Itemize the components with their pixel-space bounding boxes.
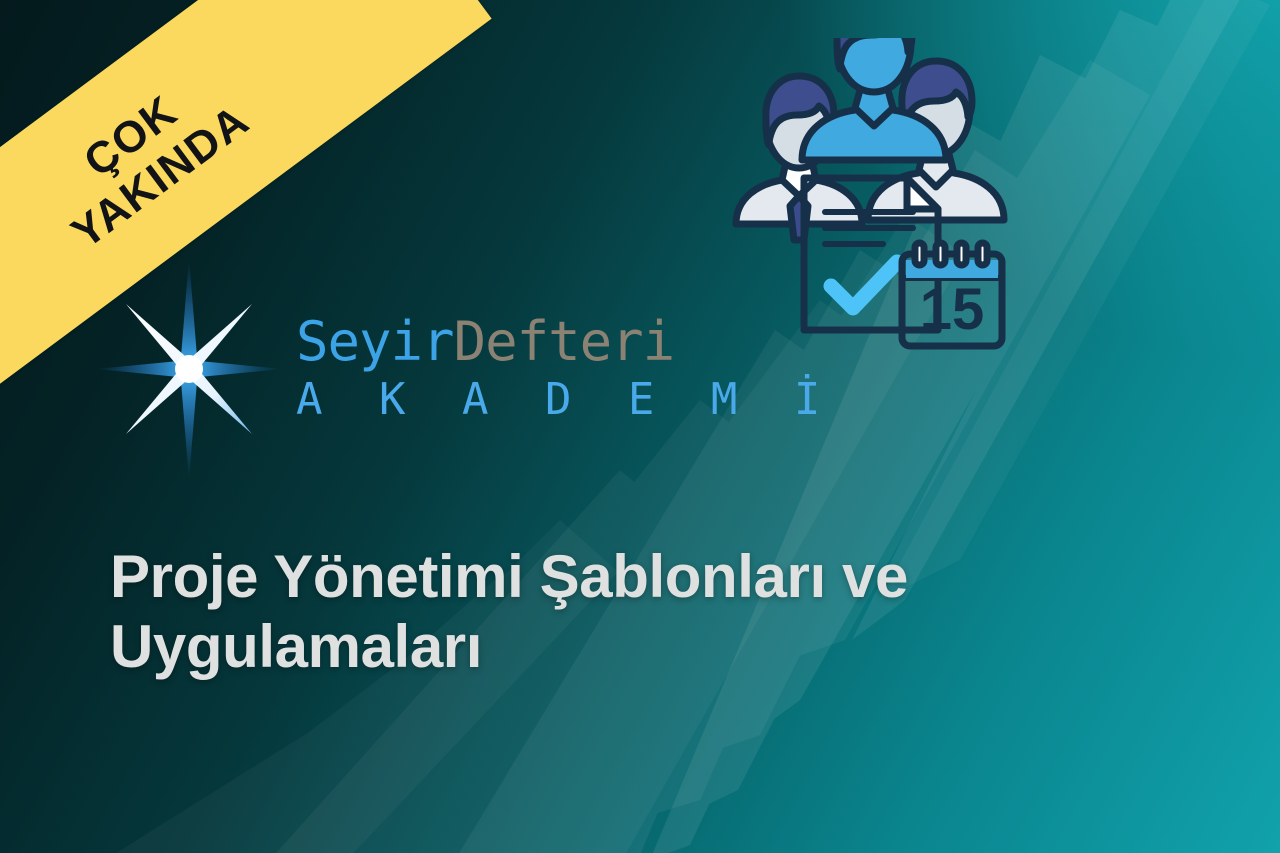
brand-subwordmark: A K A D E M İ	[296, 376, 835, 424]
wordmark-seyir: Seyir	[296, 310, 454, 373]
page-title: Proje Yönetimi Şablonları ve Uygulamalar…	[110, 542, 1190, 681]
team-document-calendar-illustration: 15	[718, 38, 1018, 360]
checkmark-icon	[831, 262, 897, 308]
page-title-line-2: Uygulamaları	[110, 612, 1190, 682]
course-promo-banner: ÇOK YAKINDA	[0, 0, 1280, 853]
wordmark-defteri: Defteri	[454, 310, 675, 373]
compass-star-icon	[96, 258, 282, 480]
calendar-day-number: 15	[920, 277, 985, 342]
brand-wordmark-group: SeyirDefteri A K A D E M İ	[296, 313, 835, 425]
page-title-line-1: Proje Yönetimi Şablonları ve	[110, 542, 1190, 612]
brand-logo[interactable]: SeyirDefteri A K A D E M İ	[96, 258, 756, 480]
brand-wordmark: SeyirDefteri	[296, 313, 835, 370]
